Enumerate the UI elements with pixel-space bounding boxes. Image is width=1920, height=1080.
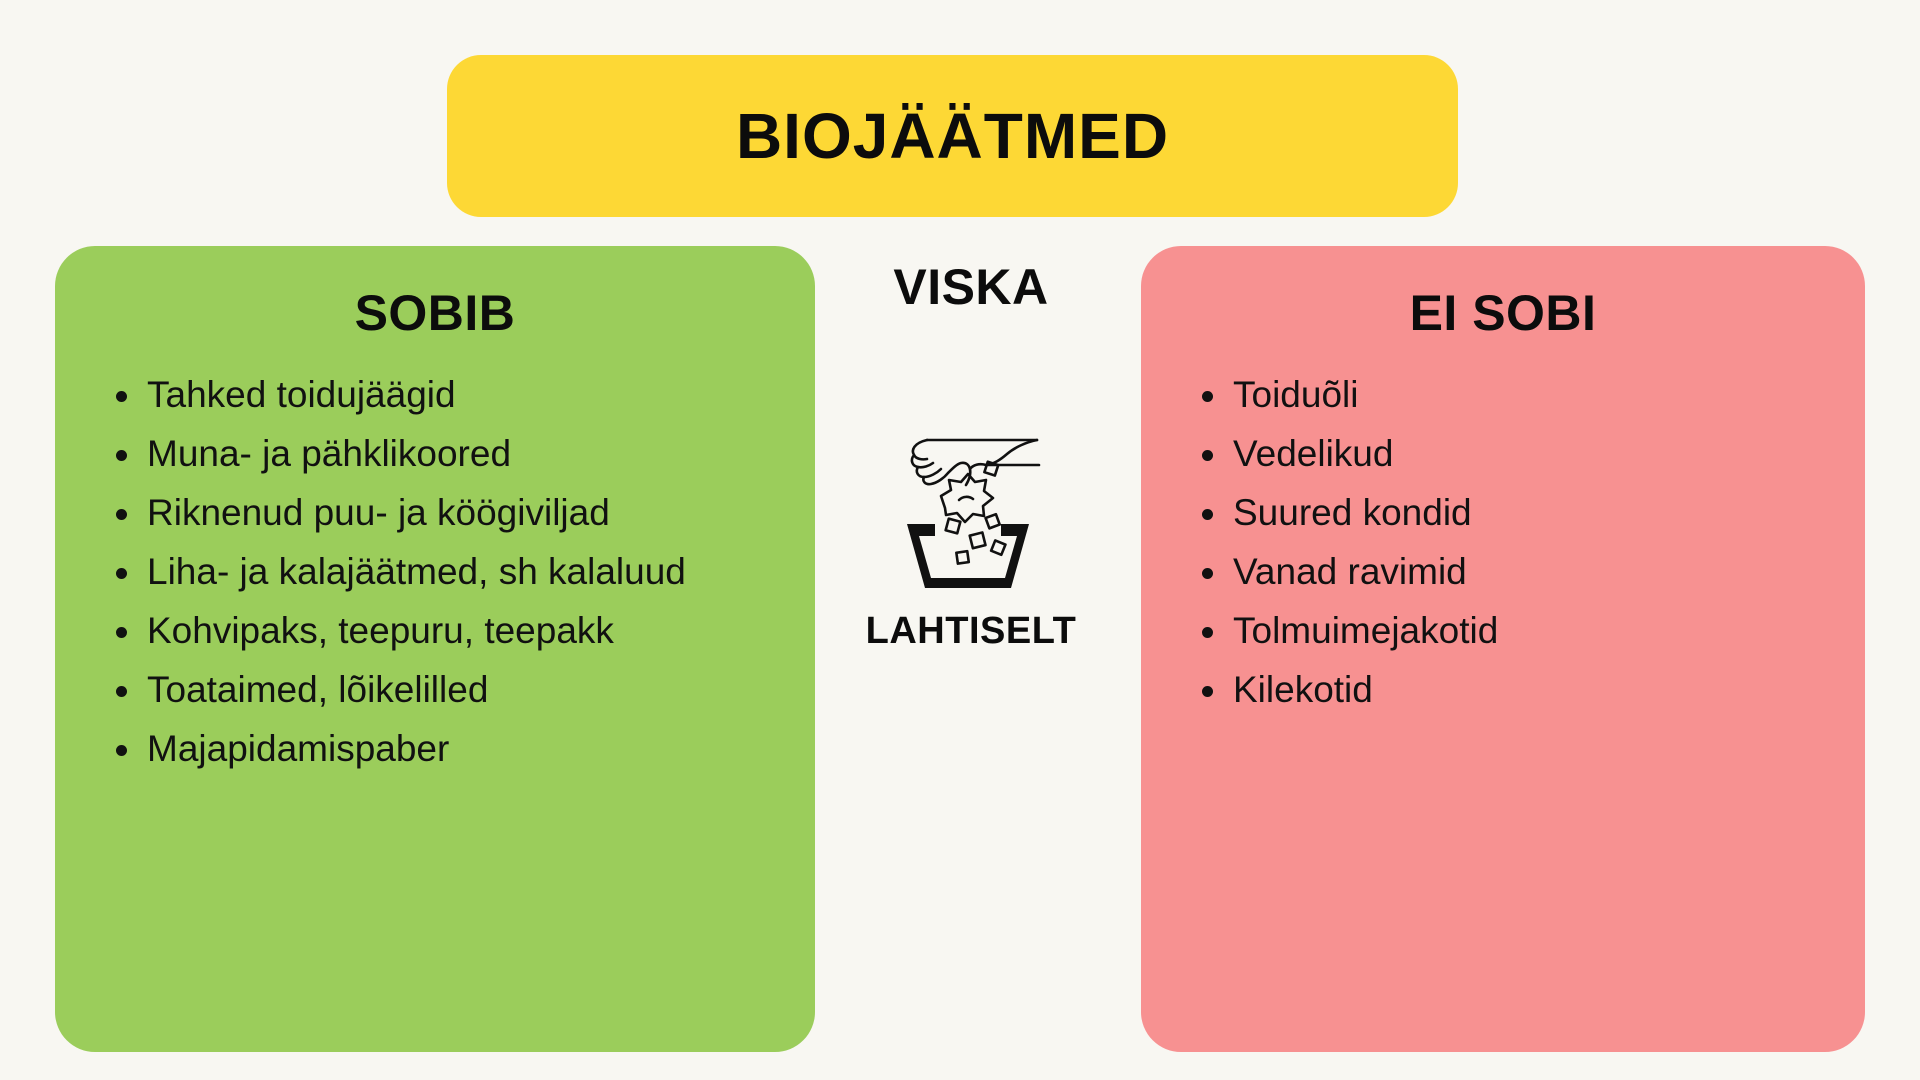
tidyman-throw-waste-in-bin-icon bbox=[887, 416, 1055, 588]
list-item: Kohvipaks, teepuru, teepakk bbox=[147, 604, 785, 658]
rejected-panel: EI SOBI Toiduõli Vedelikud Suured kondid… bbox=[1141, 246, 1865, 1052]
rejected-heading: EI SOBI bbox=[1171, 284, 1835, 342]
list-item: Tolmuimejakotid bbox=[1233, 604, 1835, 658]
accepted-list: Tahked toidujäägid Muna- ja pähklikoored… bbox=[85, 368, 785, 776]
list-item: Liha- ja kalajäätmed, sh kalaluud bbox=[147, 545, 785, 599]
accepted-panel: SOBIB Tahked toidujäägid Muna- ja pähkli… bbox=[55, 246, 815, 1052]
list-item: Vedelikud bbox=[1233, 427, 1835, 481]
waste-sorting-poster: BIOJÄÄTMED SOBIB Tahked toidujäägid Muna… bbox=[0, 0, 1920, 1080]
list-item: Muna- ja pähklikoored bbox=[147, 427, 785, 481]
list-item: Suured kondid bbox=[1233, 486, 1835, 540]
instruction-caption: LAHTISELT bbox=[866, 610, 1077, 653]
list-item: Vanad ravimid bbox=[1233, 545, 1835, 599]
list-item: Majapidamispaber bbox=[147, 722, 785, 776]
list-item: Toataimed, lõikelilled bbox=[147, 663, 785, 717]
instruction-heading: VISKA bbox=[893, 258, 1048, 316]
list-item: Toiduõli bbox=[1233, 368, 1835, 422]
list-item: Kilekotid bbox=[1233, 663, 1835, 717]
accepted-heading: SOBIB bbox=[85, 284, 785, 342]
list-item: Tahked toidujäägid bbox=[147, 368, 785, 422]
instruction-column: VISKA bbox=[840, 246, 1102, 1052]
list-item: Riknenud puu- ja köögiviljad bbox=[147, 486, 785, 540]
rejected-list: Toiduõli Vedelikud Suured kondid Vanad r… bbox=[1171, 368, 1835, 717]
page-title: BIOJÄÄTMED bbox=[736, 99, 1169, 173]
title-banner: BIOJÄÄTMED bbox=[447, 55, 1458, 217]
columns-container: SOBIB Tahked toidujäägid Muna- ja pähkli… bbox=[0, 246, 1920, 1056]
